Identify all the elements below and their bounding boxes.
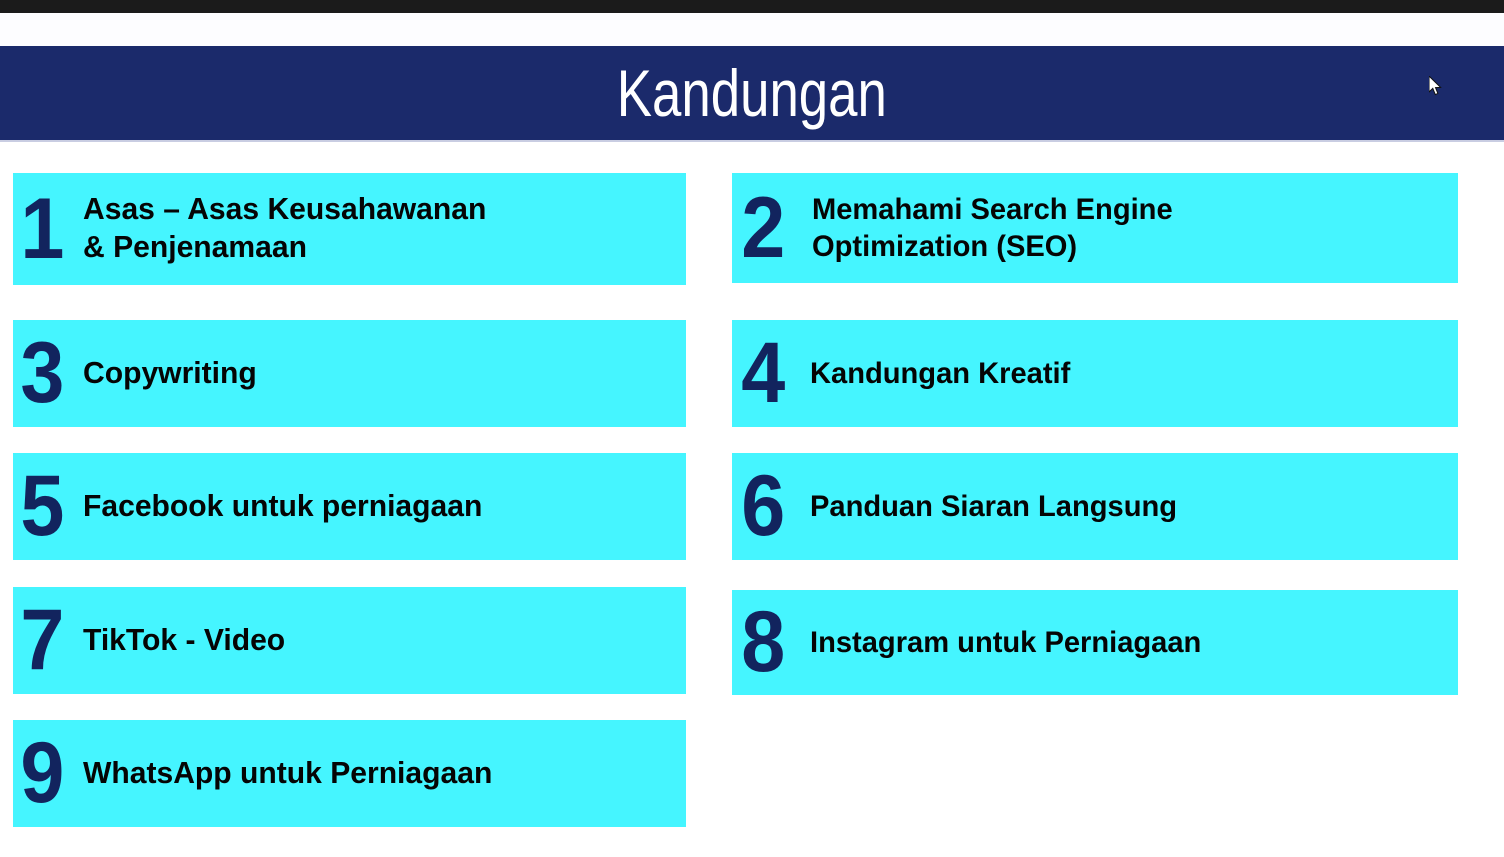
item-label-6: Panduan Siaran Langsung	[810, 488, 1177, 525]
item-label-9: WhatsApp untuk Perniagaan	[83, 754, 492, 792]
list-item-7[interactable]: 7 TikTok - Video	[13, 587, 686, 694]
slide-title-banner: Kandungan	[0, 46, 1504, 140]
list-item-9[interactable]: 9 WhatsApp untuk Perniagaan	[13, 720, 686, 827]
list-item-5[interactable]: 5 Facebook untuk perniagaan	[13, 453, 686, 560]
list-item-8[interactable]: 8 Instagram untuk Perniagaan	[732, 590, 1458, 695]
item-label-4: Kandungan Kreatif	[810, 355, 1070, 392]
list-item-2[interactable]: 2 Memahami Search Engine Optimization (S…	[732, 173, 1458, 283]
item-label-1: Asas – Asas Keusahawanan & Penjenamaan	[83, 190, 486, 269]
list-item-1[interactable]: 1 Asas – Asas Keusahawanan & Penjenamaan	[13, 173, 686, 285]
content-list: 1 Asas – Asas Keusahawanan & Penjenamaan…	[0, 140, 1504, 857]
item-number-9: 9	[13, 738, 77, 809]
list-item-4[interactable]: 4 Kandungan Kreatif	[732, 320, 1458, 427]
item-number-7: 7	[13, 605, 77, 676]
item-number-8: 8	[732, 607, 804, 678]
item-label-2: Memahami Search Engine Optimization (SEO…	[812, 191, 1173, 265]
item-number-3: 3	[13, 338, 77, 409]
item-number-4: 4	[732, 338, 804, 409]
item-number-6: 6	[732, 471, 804, 542]
item-label-8: Instagram untuk Perniagaan	[810, 624, 1201, 661]
item-label-3: Copywriting	[83, 354, 257, 392]
item-label-7: TikTok - Video	[83, 621, 285, 659]
item-number-1: 1	[13, 194, 77, 265]
list-item-6[interactable]: 6 Panduan Siaran Langsung	[732, 453, 1458, 560]
window-top-bar	[0, 0, 1504, 13]
item-number-5: 5	[13, 471, 77, 542]
page-title: Kandungan	[617, 60, 887, 126]
item-label-5: Facebook untuk perniagaan	[83, 487, 482, 525]
window-blank-strip	[0, 13, 1504, 46]
list-item-3[interactable]: 3 Copywriting	[13, 320, 686, 427]
item-number-2: 2	[732, 193, 805, 264]
